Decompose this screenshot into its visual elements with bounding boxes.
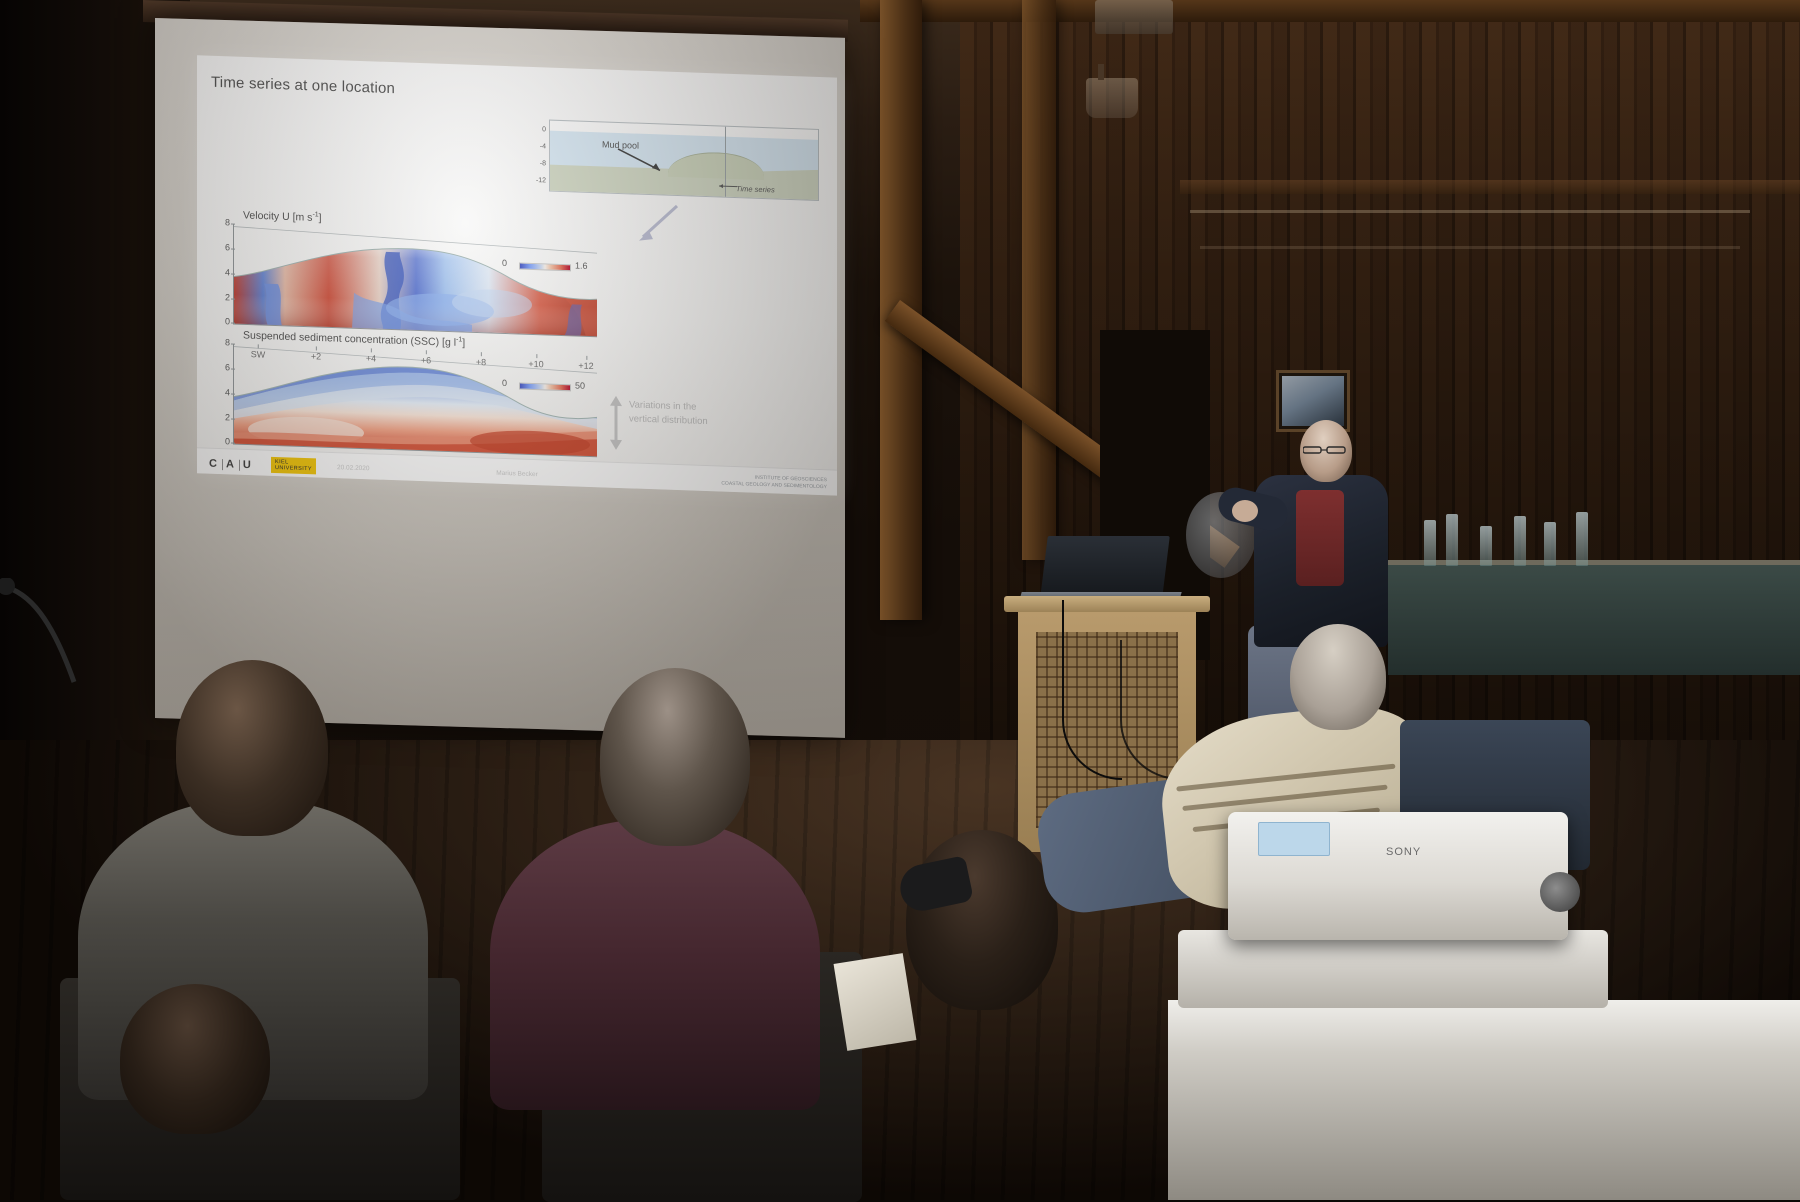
screen-surface: Time series at one location 0 -4 -8 -12 …: [155, 18, 845, 738]
presenter-glasses-icon: [1303, 446, 1347, 454]
audience-member-center-low-head: [906, 830, 1058, 1010]
inset-ytick-m12: -12: [528, 177, 546, 185]
projection-screen: Time series at one location 0 -4 -8 -12 …: [143, 0, 848, 730]
xtick-p6: +6: [421, 355, 431, 365]
velocity-ytick-2: 2: [218, 292, 230, 302]
time-series-arrow-icon: [718, 182, 738, 190]
slide-title: Time series at one location: [211, 74, 395, 97]
ssc-ytick-8: 8: [218, 337, 230, 347]
ceiling-beam: [860, 0, 1800, 22]
projector-lens: [1540, 872, 1580, 912]
ssc-ytick-4: 4: [218, 387, 230, 397]
footer-institute: INSTITUTE OF GEOSCIENCES COASTAL GEOLOGY…: [721, 474, 827, 492]
ssc-ytick-2: 2: [218, 412, 230, 422]
time-series-label: Time series: [736, 184, 775, 194]
slide-footer: C A U KIEL UNIVERSITY 20.02.2020 Marius …: [197, 447, 837, 495]
velocity-ytick-4: 4: [218, 267, 230, 277]
velocity-colorbar-max: 1.6: [575, 260, 588, 270]
projector-label-sticker: [1258, 822, 1330, 856]
presenter-hand: [1232, 500, 1258, 522]
audience-member-front-left-head: [176, 660, 328, 836]
projector-base-tray: [1178, 930, 1608, 1008]
audience-member-far-left-head: [120, 984, 270, 1134]
velocity-ytick-8: 8: [218, 217, 230, 227]
vertical-double-arrow-icon: [609, 396, 623, 450]
velocity-colorbar-min: 0: [502, 258, 507, 268]
ceiling-rail-2: [1200, 246, 1740, 249]
xtick-p4: +4: [366, 353, 376, 363]
projector-brand-label: SONY: [1386, 846, 1421, 858]
xtick-sw: SW: [251, 349, 266, 360]
velocity-ytick-0: 0: [218, 316, 230, 326]
velocity-title-tail: ]: [319, 212, 322, 224]
ssc-colorbar-min: 0: [502, 378, 507, 388]
paper-sheet: [834, 953, 917, 1051]
velocity-ytick-6: 6: [218, 242, 230, 252]
variation-annotation: Variations in the vertical distribution: [629, 398, 708, 429]
xtick-p8: +8: [476, 357, 486, 367]
xtick-p10: +10: [528, 359, 543, 370]
velocity-plot: 8 6 4 2 0: [233, 225, 597, 338]
presenter-shirt: [1296, 490, 1344, 586]
presentation-slide: Time series at one location 0 -4 -8 -12 …: [197, 55, 837, 495]
ceiling-vent: [1095, 0, 1173, 34]
xtick-p12: +12: [578, 361, 593, 372]
laptop-screen[interactable]: [1040, 536, 1170, 598]
velocity-title-text: Velocity U [m s: [243, 209, 312, 223]
audience-member-right-head: [1290, 624, 1386, 730]
ceiling-rail: [1190, 210, 1750, 213]
inset-ytick-m8: -8: [528, 160, 546, 168]
laptop-cable: [1062, 600, 1122, 780]
audience-member-front-center-body: [490, 820, 820, 1110]
variation-annotation-line2: vertical distribution: [629, 412, 708, 429]
structural-post-mid: [1022, 0, 1056, 560]
wall-lamp-right: [1086, 78, 1138, 118]
inset-ytick-m4: -4: [528, 143, 546, 151]
projector-table: [1168, 1000, 1800, 1200]
ssc-colorbar-max: 50: [575, 380, 585, 390]
ssc-ytick-6: 6: [218, 362, 230, 372]
microphone-stand: [0, 578, 96, 688]
mud-pool-arrow-icon: [616, 147, 676, 177]
lecture-hall-scene: Time series at one location 0 -4 -8 -12 …: [0, 0, 1800, 1200]
velocity-heatmap-field: [234, 225, 597, 337]
bottles-row: [1418, 508, 1798, 566]
cross-section-inset: 0 -4 -8 -12 Mud pool Time series: [549, 120, 819, 201]
ceiling-beam-secondary: [1180, 180, 1800, 194]
slide-pointer-arrow-icon: [633, 200, 681, 246]
picture-artwork: [1282, 376, 1344, 426]
audience-member-front-center-head: [600, 668, 750, 846]
inset-ytick-0: 0: [528, 126, 546, 134]
ssc-plot: 8 6 4 2 0 SW +2 +4 +6 +8 +10 +12: [233, 345, 597, 458]
ssc-title-tail: ]: [462, 337, 465, 349]
ssc-ytick-0: 0: [218, 436, 230, 446]
xtick-p2: +2: [311, 351, 321, 361]
back-counter: [1388, 565, 1800, 675]
velocity-panel-title: Velocity U [m s-1]: [243, 209, 322, 224]
